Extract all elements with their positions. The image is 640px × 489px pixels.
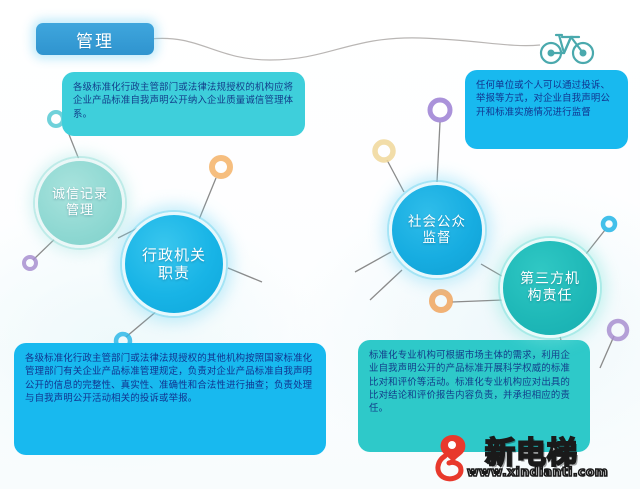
node-public-supervision[interactable]: 社会公众 监督 — [389, 182, 485, 278]
node-third-line2: 构责任 — [528, 288, 573, 304]
line-dot-purple-br-up — [600, 336, 614, 368]
line-public-to-dot-purple-right — [437, 122, 440, 182]
node-third-party-responsibility-label: 第三方机 构责任 — [520, 271, 580, 305]
node-public-line1: 社会公众 — [408, 214, 466, 230]
title-banner-label: 管理 — [76, 27, 114, 52]
line-third-to-dot-orange-lower — [452, 300, 503, 302]
dot-orange-lower — [432, 292, 450, 310]
dot-purple-left — [24, 257, 36, 269]
bubble-top-left-text: 各级标准化行政主管部门或法律法规授权的机构应将企业产品标准自我声明公开纳入企业质… — [73, 81, 294, 121]
bubble-bottom-left: 各级标准化行政主管部门或法律法规授权的其他机构按照国家标准化管理部门有关企业产品… — [14, 343, 326, 455]
node-credit-record-management[interactable]: 诚信记录 管理 — [35, 158, 125, 248]
node-credit-line1: 诚信记录 — [52, 187, 108, 202]
dot-cream-mid — [375, 142, 393, 160]
bubble-top-right: 任何单位或个人可以通过投诉、举报等方式，对企业自我声明公开和标准实施情况进行监督 — [465, 70, 628, 149]
node-credit-line2: 管理 — [66, 203, 94, 218]
watermark: 新电梯 www.xindianti.com — [423, 426, 637, 484]
bubble-top-left: 各级标准化行政主管部门或法律法规授权的机构应将企业产品标准自我声明公开纳入企业质… — [62, 72, 305, 136]
node-admin-line1: 行政机关 — [142, 246, 206, 264]
dot-orange-upper — [212, 158, 230, 176]
decor-wave-path — [150, 38, 540, 60]
node-admin-line2: 职责 — [158, 264, 190, 282]
watermark-url: www.xindianti.com — [467, 464, 608, 479]
bicycle-icon — [538, 24, 596, 66]
line-admin-to-right — [228, 268, 262, 282]
dot-cyan-right — [603, 218, 615, 230]
node-third-party-responsibility[interactable]: 第三方机 构责任 — [500, 238, 600, 338]
node-administrative-duty[interactable]: 行政机关 职责 — [122, 212, 226, 316]
dot-teal-tl — [49, 112, 63, 126]
bubble-top-right-text: 任何单位或个人可以通过投诉、举报等方式，对企业自我声明公开和标准实施情况进行监督 — [476, 79, 617, 119]
bubble-bottom-right-text: 标准化专业机构可根据市场主体的需求，利用企业自我声明公开的产品标准开展科学权威的… — [369, 349, 579, 416]
bubble-bottom-left-text: 各级标准化行政主管部门或法律法规授权的其他机构按照国家标准化管理部门有关企业产品… — [25, 352, 315, 405]
node-third-line1: 第三方机 — [520, 271, 580, 287]
infographic-canvas: 管理 各级标准化行政主管部门或法律法规授权的机构应将企业产品标准自我声明公开纳入… — [0, 0, 640, 489]
line-public-to-left — [355, 252, 391, 272]
line-admin-to-dot-cyan — [126, 310, 158, 337]
line-public-to-dot-orange-lower — [370, 270, 402, 300]
title-banner: 管理 — [36, 23, 154, 55]
line-third-to-dot-cyan-right — [586, 230, 605, 254]
node-public-supervision-label: 社会公众 监督 — [408, 214, 466, 246]
node-credit-record-management-label: 诚信记录 管理 — [52, 187, 108, 218]
line-admin-to-dot-orange — [198, 178, 216, 222]
line-public-to-dot-cream — [387, 160, 404, 192]
dot-purple-br — [609, 321, 627, 339]
node-administrative-duty-label: 行政机关 职责 — [142, 246, 206, 282]
dot-purple-right — [430, 100, 450, 120]
node-public-line2: 监督 — [423, 230, 452, 246]
